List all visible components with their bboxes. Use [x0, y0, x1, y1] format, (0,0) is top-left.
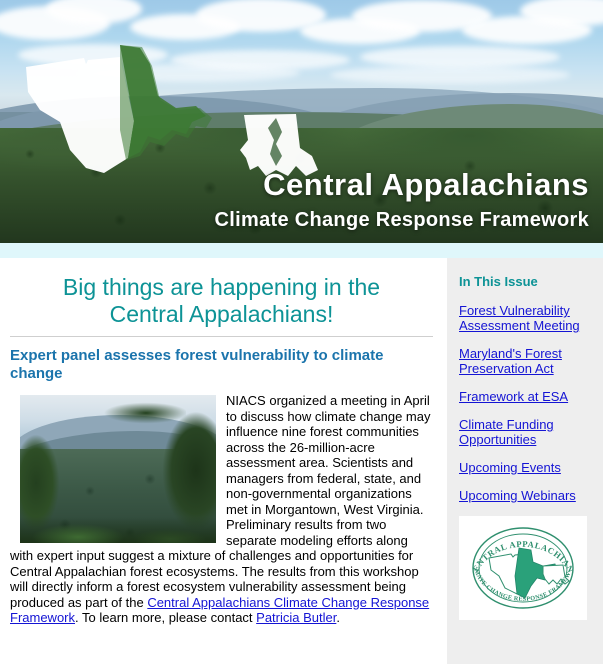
sidebar-link-framework-at-esa[interactable]: Framework at ESA: [459, 389, 593, 404]
article-heading: Expert panel assesses forest vulnerabili…: [10, 347, 435, 383]
framework-logo: CENTRAL APPALACHIANS CLIMATE CHANGE RESP…: [459, 516, 587, 620]
title-divider: [10, 336, 433, 337]
sidebar-link-upcoming-events[interactable]: Upcoming Events: [459, 460, 593, 475]
accent-band: [0, 243, 603, 258]
sidebar-title: In This Issue: [459, 274, 593, 289]
framework-logo-graphic: CENTRAL APPALACHIANS CLIMATE CHANGE RESP…: [459, 516, 587, 620]
article-photo: [20, 395, 216, 543]
article-body: NIACS organized a meeting in April to di…: [10, 393, 433, 626]
article-paragraph-part3: .: [336, 610, 340, 625]
contact-person-link[interactable]: Patricia Butler: [256, 610, 336, 625]
state-outlines-graphic: [0, 0, 603, 243]
main-column: Big things are happening in the Central …: [0, 258, 443, 664]
sidebar: In This Issue Forest Vulnerability Asses…: [447, 258, 603, 664]
masthead-banner: Central Appalachians Climate Change Resp…: [0, 0, 603, 243]
page-title: Big things are happening in the Central …: [26, 274, 417, 328]
banner-title: Central Appalachians: [263, 167, 589, 203]
sidebar-link-maryland-forest-act[interactable]: Maryland's Forest Preservation Act: [459, 346, 593, 376]
content-area: Big things are happening in the Central …: [0, 258, 603, 664]
banner-subtitle: Climate Change Response Framework: [215, 209, 589, 232]
sidebar-link-climate-funding[interactable]: Climate Funding Opportunities: [459, 417, 593, 447]
newsletter-page: Central Appalachians Climate Change Resp…: [0, 0, 603, 664]
article-paragraph-part2: . To learn more, please contact: [75, 610, 256, 625]
sidebar-link-forest-vulnerability[interactable]: Forest Vulnerability Assessment Meeting: [459, 303, 593, 333]
ohio-shape: [26, 57, 134, 173]
photo-foreground-foliage: [20, 517, 216, 543]
sidebar-link-upcoming-webinars[interactable]: Upcoming Webinars: [459, 488, 593, 503]
